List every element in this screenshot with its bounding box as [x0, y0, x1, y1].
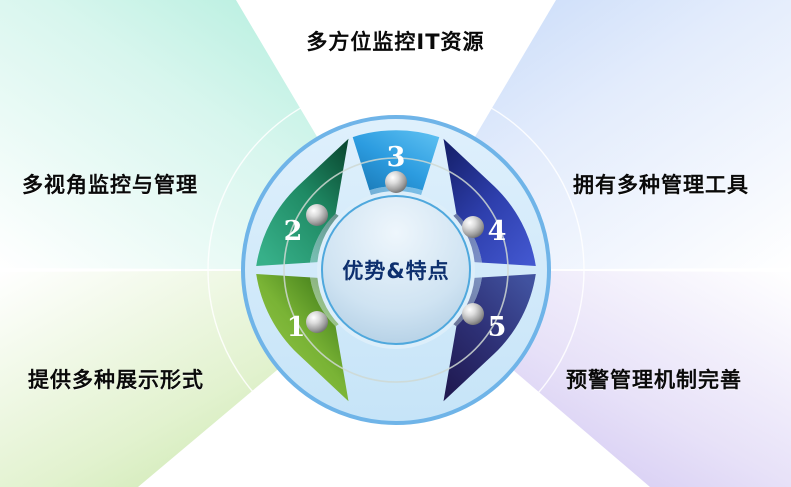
infographic-canvas: 优势&特点 3 2 1 4 5: [0, 0, 791, 487]
center-label: 优势&特点: [342, 259, 449, 283]
marker-2[interactable]: [306, 204, 328, 226]
label-left-bottom: 提供多种展示形式: [28, 364, 204, 394]
marker-4[interactable]: [462, 216, 484, 238]
marker-3[interactable]: [385, 171, 407, 193]
label-left-top: 多视角监控与管理: [22, 169, 198, 199]
label-right-top: 拥有多种管理工具: [573, 169, 749, 199]
segment-3-number: 3: [387, 142, 406, 173]
marker-1[interactable]: [306, 311, 328, 333]
segment-5-number: 5: [488, 312, 507, 343]
center-disc: 优势&特点: [317, 191, 475, 349]
segment-2-number: 2: [284, 216, 303, 247]
label-right-bottom: 预警管理机制完善: [566, 364, 742, 394]
segment-4-number: 4: [488, 216, 507, 247]
segment-1-number: 1: [287, 312, 306, 343]
marker-5[interactable]: [462, 303, 484, 325]
label-top: 多方位监控IT资源: [0, 26, 791, 56]
